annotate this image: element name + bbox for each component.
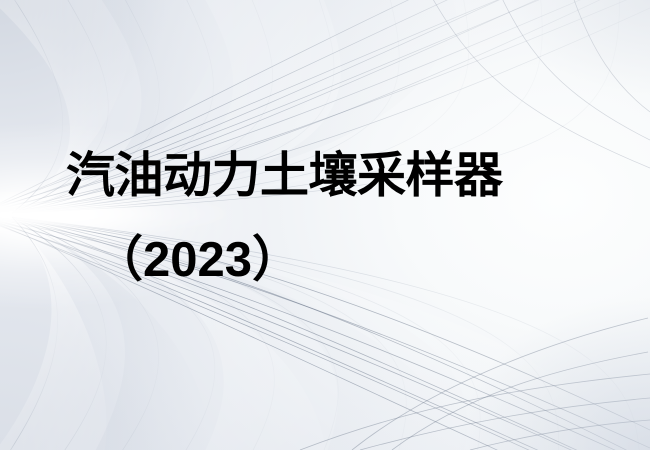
page-title-line-1: 汽油动力土壤采样器 [66, 152, 503, 201]
page-title-line-2: （2023） [94, 236, 301, 285]
title-block: 汽油动力土壤采样器 （2023） [0, 0, 650, 450]
title-card: 汽油动力土壤采样器 （2023） [0, 0, 650, 450]
